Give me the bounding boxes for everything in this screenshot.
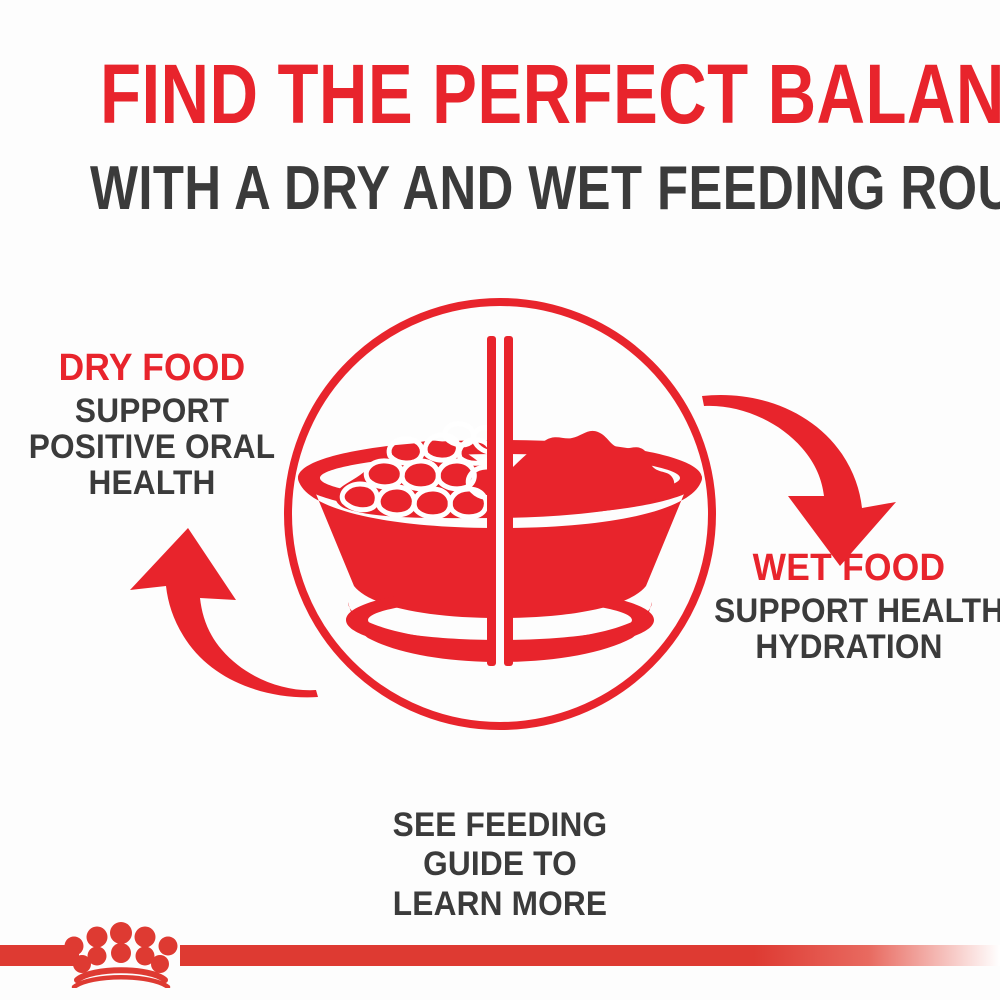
- cta-line-3: LEARN MORE: [35, 885, 965, 924]
- dry-food-description-line-3: HEALTH: [22, 465, 282, 501]
- crown-arcs: [74, 970, 168, 987]
- divider-gap: [496, 336, 504, 666]
- crown-dots: [65, 922, 178, 973]
- dry-food-description: SUPPORT POSITIVE ORAL HEALTH: [22, 393, 282, 501]
- pet-food-bowl-icon: [258, 288, 742, 754]
- dry-food-description-line-1: SUPPORT: [22, 393, 282, 429]
- royal-canin-crown-logo: [60, 920, 182, 988]
- dry-food-label-block: DRY FOOD SUPPORT POSITIVE ORAL HEALTH: [12, 348, 292, 501]
- wet-food-description-line-2: HYDRATION: [714, 629, 984, 665]
- divider-line-left: [487, 336, 496, 666]
- wet-food-description-line-1: SUPPORT HEALTHY: [714, 593, 984, 629]
- curved-arrow-up-left-icon: [108, 520, 318, 710]
- dry-food-description-line-2: POSITIVE ORAL: [22, 429, 282, 465]
- cta-line-2: GUIDE TO: [35, 845, 965, 884]
- curved-arrow-down-right-icon: [700, 382, 910, 572]
- divider-line-right: [504, 336, 513, 666]
- wet-food-description: SUPPORT HEALTHY HYDRATION: [714, 593, 984, 665]
- page-title: FIND THE PERFECT BALANCE: [100, 52, 900, 136]
- infographic-canvas: FIND THE PERFECT BALANCE WITH A DRY AND …: [0, 0, 1000, 1000]
- page-subtitle: WITH A DRY AND WET FEEDING ROUTINE: [90, 158, 910, 220]
- cta-text-block[interactable]: SEE FEEDING GUIDE TO LEARN MORE: [0, 806, 1000, 924]
- footer-bar-right: [180, 945, 1000, 966]
- dry-food-heading: DRY FOOD: [22, 348, 282, 388]
- cta-line-1: SEE FEEDING: [35, 806, 965, 845]
